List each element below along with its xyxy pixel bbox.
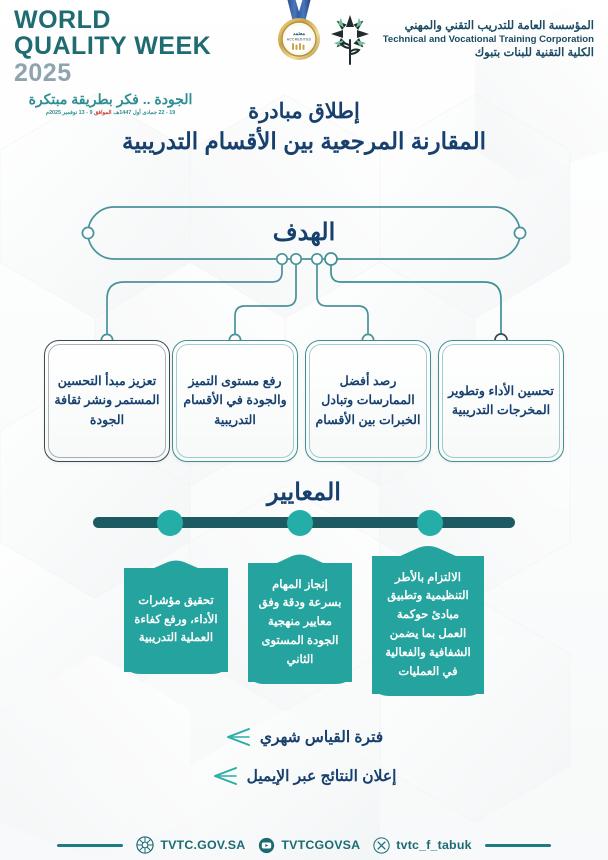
criteria-heading: المعايير <box>0 478 608 507</box>
criteria-box-1-text: تحقيق مؤشرات الأداء، ورفع كفاءة العملية … <box>124 592 228 648</box>
info-line-1-text: فترة القياس شهري <box>260 728 383 747</box>
footer-divider-left <box>485 844 551 847</box>
footer-divider-right <box>57 844 123 847</box>
wqw-line2: QUALITY WEEK <box>14 32 211 60</box>
footer-label-youtube[interactable]: TVTCGOVSA <box>281 838 360 852</box>
wqw-line1: WORLD <box>14 8 229 33</box>
footer-item-youtube[interactable]: TVTCGOVSA <box>258 837 360 854</box>
wqw-year: 2025 <box>14 59 72 87</box>
goal-box-2: رصد أفضل الممارسات وتبادل الخبرات بين ال… <box>305 340 431 462</box>
page-title: إطلاق مبادرة المقارنة المرجعية بين الأقس… <box>0 98 608 157</box>
goal-box-1: تحسين الأداء وتطوير المخرجات التدريبية <box>438 340 564 462</box>
info-line-2: إعلان النتائج عبر الإيميل <box>0 766 608 786</box>
globe-icon[interactable] <box>136 836 154 854</box>
footer-item-x[interactable]: tvtc_f_tabuk <box>373 837 471 854</box>
footer-label-website[interactable]: TVTC.GOV.SA <box>160 838 245 852</box>
tvtc-college-name: الكلية التقنية للبنات بتبوك <box>383 46 594 61</box>
criteria-box-3-text: الالتزام بالأطر التنظيمية وتطبيق مبادئ ح… <box>372 569 484 682</box>
criteria-node-1 <box>157 510 183 536</box>
criteria-box-1: تحقيق مؤشرات الأداء، ورفع كفاءة العملية … <box>124 568 228 672</box>
title-line-2: المقارنة المرجعية بين الأقسام التدريبية <box>0 126 608 157</box>
footer-item-website[interactable]: TVTC.GOV.SA <box>136 836 245 854</box>
criteria-node-2 <box>287 510 313 536</box>
info-line-1: فترة القياس شهري <box>0 727 608 747</box>
goal-box-3-text: رفع مستوى التميز والجودة في الأقسام التد… <box>173 372 297 429</box>
x-twitter-icon[interactable] <box>373 837 390 854</box>
goal-box-4-text: تعزيز مبدأ التحسين المستمر ونشر ثقافة ال… <box>45 372 169 429</box>
goal-box-2-text: رصد أفضل الممارسات وتبادل الخبرات بين ال… <box>306 372 430 429</box>
title-line-1: إطلاق مبادرة <box>0 98 608 126</box>
goal-banner: الهدف <box>84 205 524 260</box>
criteria-box-2: إنجاز المهام بسرعة ودقة وفق معايير منهجي… <box>248 563 352 682</box>
criteria-box-3: الالتزام بالأطر التنظيمية وتطبيق مبادئ ح… <box>372 556 484 694</box>
chevron-left-icon <box>225 727 251 747</box>
goal-banner-label: الهدف <box>84 205 524 260</box>
criteria-box-2-text: إنجاز المهام بسرعة ودقة وفق معايير منهجي… <box>248 576 352 670</box>
tvtc-emblem-icon <box>326 14 374 66</box>
svg-text:ACCREDITED: ACCREDITED <box>287 38 312 42</box>
goal-box-1-text: تحسين الأداء وتطوير المخرجات التدريبية <box>439 382 563 420</box>
tvtc-english-name: Technical and Vocational Training Corpor… <box>383 34 594 46</box>
tvtc-arabic-name: المؤسسة العامة للتدريب التقني والمهني <box>383 19 594 34</box>
youtube-icon[interactable] <box>258 837 275 854</box>
goal-box-4: تعزيز مبدأ التحسين المستمر ونشر ثقافة ال… <box>44 340 170 462</box>
goal-boxes: تحسين الأداء وتطوير المخرجات التدريبية ر… <box>0 340 608 465</box>
chevron-left-icon-2 <box>212 766 238 786</box>
info-line-2-text: إعلان النتائج عبر الإيميل <box>247 767 397 786</box>
footer-social-bar: tvtc_f_tabuk TVTCGOVSA TVTC.GOV.SA <box>0 831 608 859</box>
goal-box-3: رفع مستوى التميز والجودة في الأقسام التد… <box>172 340 298 462</box>
footer-label-x[interactable]: tvtc_f_tabuk <box>396 838 471 852</box>
criteria-node-3 <box>417 510 443 536</box>
svg-text:معتمد: معتمد <box>293 31 305 37</box>
tvtc-logo-block: المؤسسة العامة للتدريب التقني والمهني Te… <box>326 14 594 66</box>
poster-canvas: WORLD QUALITY WEEK 2025 الجودة .. فكر بط… <box>0 0 608 860</box>
poster-header: WORLD QUALITY WEEK 2025 الجودة .. فكر بط… <box>0 0 608 86</box>
